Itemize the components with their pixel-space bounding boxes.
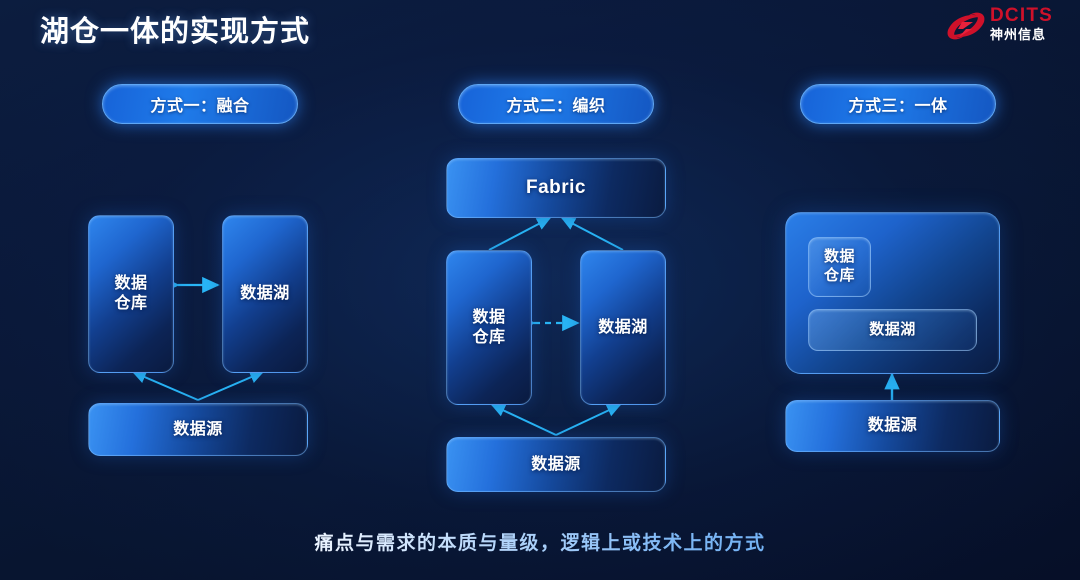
pill-approach-3[interactable]: 方式三：一体	[800, 84, 996, 124]
pill-approach-1[interactable]: 方式一：融合	[102, 84, 298, 124]
c2-data-lake-label: 数据湖	[598, 318, 648, 338]
connector-c2-source-to-warehouse	[492, 405, 556, 435]
c3-data-lake-label: 数据湖	[869, 321, 916, 340]
connector-c1-source-to-warehouse	[133, 372, 198, 400]
c1-data-lake-box[interactable]: 数据湖	[222, 215, 308, 373]
logo-text-cn: 神州信息	[990, 27, 1053, 42]
pill-approach-2-label: 方式二：编织	[506, 92, 605, 116]
c3-data-warehouse-label: 数据 仓库	[824, 248, 855, 286]
c2-data-lake-box[interactable]: 数据湖	[580, 250, 666, 405]
c2-fabric-box[interactable]: Fabric	[446, 158, 666, 218]
connector-c2-lake-to-fabric	[562, 218, 623, 250]
c2-fabric-label: Fabric	[526, 176, 586, 200]
pill-approach-3-label: 方式三：一体	[848, 92, 947, 116]
column-3: 方式三：一体	[748, 84, 1048, 124]
connector-c2-source-to-lake	[556, 405, 620, 435]
c1-data-source-label: 数据源	[173, 420, 223, 440]
column-2: 方式二：编织	[406, 84, 706, 124]
c3-data-source-label: 数据源	[868, 416, 918, 436]
c2-data-source-box[interactable]: 数据源	[446, 437, 666, 492]
c3-data-source-box[interactable]: 数据源	[785, 400, 1000, 452]
c2-data-warehouse-box[interactable]: 数据 仓库	[446, 250, 532, 405]
pill-approach-1-label: 方式一：融合	[150, 92, 249, 116]
pill-approach-2[interactable]: 方式二：编织	[458, 84, 654, 124]
c3-data-lake-box[interactable]: 数据湖	[808, 309, 977, 351]
c2-data-warehouse-label: 数据 仓库	[472, 308, 505, 348]
connector-c1-source-to-lake	[198, 372, 263, 400]
c1-data-lake-label: 数据湖	[240, 284, 290, 304]
c3-data-warehouse-box[interactable]: 数据 仓库	[808, 237, 871, 297]
c1-data-warehouse-box[interactable]: 数据 仓库	[88, 215, 174, 373]
c1-data-source-box[interactable]: 数据源	[88, 403, 308, 456]
c2-data-source-label: 数据源	[531, 455, 581, 475]
brand-logo: DCITS 神州信息	[944, 6, 1066, 48]
swoosh-logo-icon	[944, 10, 988, 42]
page-header: 湖仓一体的实现方式 DCITS 神州信息	[0, 0, 1080, 62]
c1-data-warehouse-label: 数据 仓库	[114, 274, 147, 314]
logo-text-en: DCITS	[990, 6, 1053, 26]
footer-caption: 痛点与需求的本质与量级，逻辑上或技术上的方式	[0, 528, 1080, 555]
page-title: 湖仓一体的实现方式	[40, 8, 310, 50]
column-1: 方式一：融合	[50, 84, 350, 124]
connector-c2-warehouse-to-fabric	[489, 218, 550, 250]
